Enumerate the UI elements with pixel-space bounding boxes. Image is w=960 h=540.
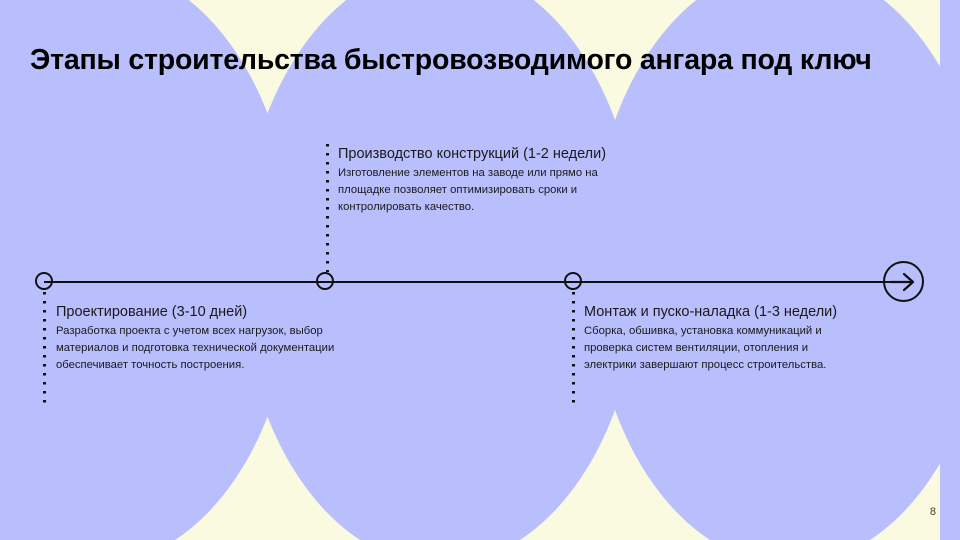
stage-block-manufacturing: Производство конструкций (1-2 недели) Из… xyxy=(338,145,678,215)
slide-canvas: Этапы строительства быстровозводимого ан… xyxy=(0,0,960,540)
timeline-node-manufacturing[interactable] xyxy=(316,272,334,290)
stage-heading-design: Проектирование (3-10 дней) xyxy=(56,303,416,321)
stage-block-assembly: Монтаж и пуско-наладка (1-3 недели) Сбор… xyxy=(584,303,934,373)
stage-heading-manufacturing: Производство конструкций (1-2 недели) xyxy=(338,145,678,163)
stage-body-line: Сборка, обшивка, установка коммуникаций … xyxy=(584,323,934,340)
stage-body-assembly: Сборка, обшивка, установка коммуникаций … xyxy=(584,323,934,373)
stage-body-line: контролировать качество. xyxy=(338,199,678,216)
stage-heading-assembly: Монтаж и пуско-наладка (1-3 недели) xyxy=(584,303,934,321)
stage-block-design: Проектирование (3-10 дней) Разработка пр… xyxy=(56,303,416,373)
connector-dotted-design xyxy=(43,292,46,408)
page-title: Этапы строительства быстровозводимого ан… xyxy=(30,44,930,77)
stage-body-design: Разработка проекта с учетом всех нагрузо… xyxy=(56,323,416,373)
timeline-node-design[interactable] xyxy=(35,272,53,290)
stage-body-line: проверка систем вентиляции, отопления и xyxy=(584,340,934,357)
connector-dotted-manufacturing xyxy=(326,144,329,272)
timeline-axis xyxy=(44,281,904,283)
arrow-right-icon xyxy=(889,268,917,296)
connector-dotted-assembly xyxy=(572,292,575,408)
stage-body-line: Изготовление элементов на заводе или пря… xyxy=(338,165,678,182)
timeline-node-assembly[interactable] xyxy=(564,272,582,290)
stage-body-line: электрики завершают процесс строительств… xyxy=(584,357,934,374)
page-number: 8 xyxy=(930,506,936,518)
stage-body-line: материалов и подготовка технической доку… xyxy=(56,340,416,357)
stage-body-line: площадке позволяет оптимизировать сроки … xyxy=(338,182,678,199)
stage-body-line: Разработка проекта с учетом всех нагрузо… xyxy=(56,323,416,340)
stage-body-line: обеспечивает точность построения. xyxy=(56,357,416,374)
stage-body-manufacturing: Изготовление элементов на заводе или пря… xyxy=(338,165,678,215)
